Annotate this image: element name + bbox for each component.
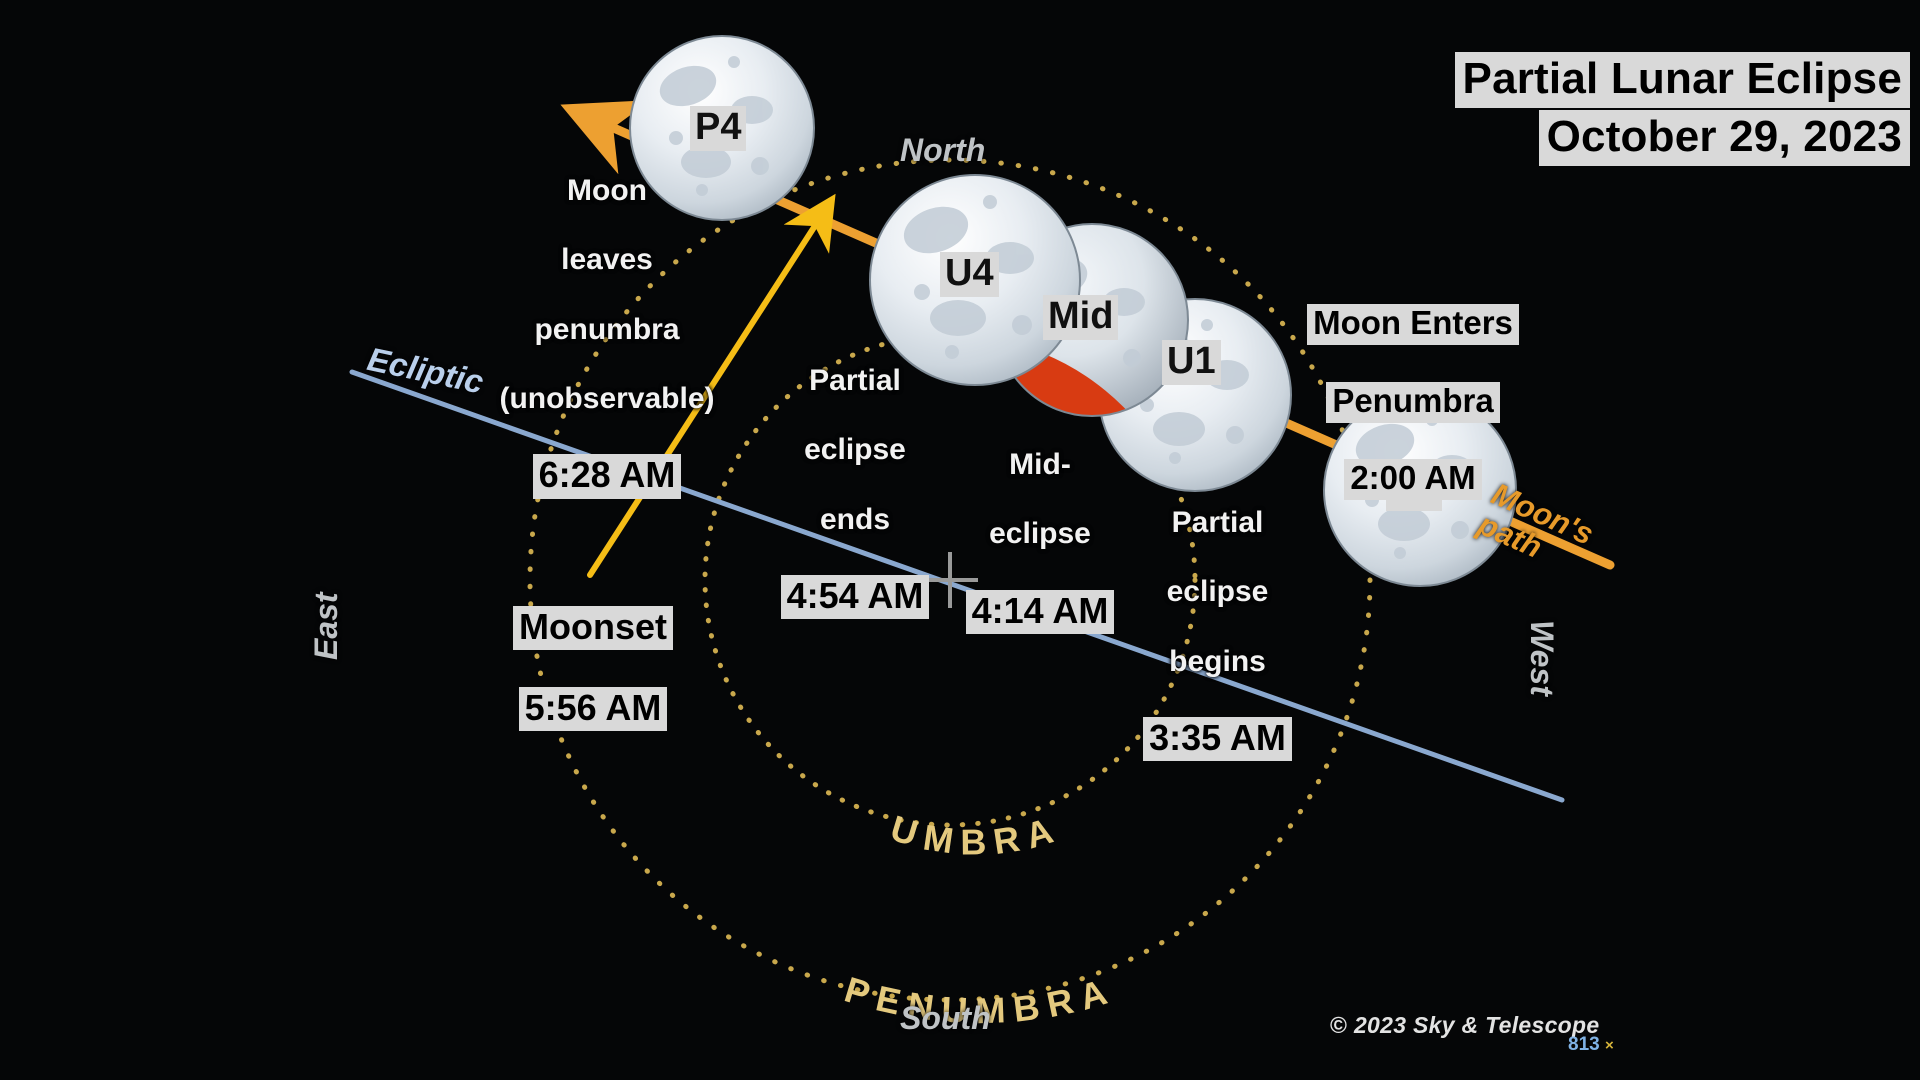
- event-caption-line-1: Moon Enters: [1307, 304, 1519, 345]
- event-time-partial-eclipse-begins: 3:35 AM: [1143, 717, 1292, 761]
- event-caption-line-2: eclipse: [760, 433, 950, 467]
- event-time-moonset: 5:56 AM: [519, 687, 668, 731]
- copyright-icon: ©: [1330, 1012, 1347, 1038]
- event-caption-moonset: Moonset: [513, 606, 673, 650]
- event-caption-line-1: Partial: [1120, 506, 1315, 540]
- event-moonset: Moonset 5:56 AM: [498, 570, 688, 767]
- event-moon-enters-penumbra: Moon Enters Penumbra 2:00 AM: [1288, 268, 1538, 536]
- moon-label-u4: U4: [940, 252, 999, 297]
- event-caption-line-2: eclipse: [1120, 575, 1315, 609]
- event-caption-line-1: Mid-: [940, 448, 1140, 482]
- title-line-1: Partial Lunar Eclipse: [1455, 52, 1910, 108]
- event-partial-eclipse-begins: Partial eclipse begins 3:35 AM: [1120, 470, 1315, 797]
- event-time-moon-leaves-penumbra: 6:28 AM: [533, 454, 682, 498]
- event-caption-line-2: leaves: [492, 243, 722, 277]
- cardinal-east: East: [308, 592, 345, 660]
- event-caption-line-3: ends: [760, 503, 950, 537]
- event-moon-leaves-penumbra: Moon leaves penumbra (unobservable) 6:28…: [492, 138, 722, 535]
- cardinal-north: North: [900, 132, 985, 169]
- copyright-credit: © 2023 Sky & Telescope: [1330, 1012, 1599, 1039]
- cardinal-south: South: [900, 1000, 991, 1037]
- event-caption-line-1: Moon: [492, 174, 722, 208]
- event-caption-line-4: (unobservable): [492, 382, 722, 416]
- event-caption-line-1: Partial: [760, 364, 950, 398]
- event-caption-line-2: Penumbra: [1326, 382, 1499, 423]
- event-partial-eclipse-ends: Partial eclipse ends 4:54 AM: [760, 328, 950, 655]
- copyright-text: 2023 Sky & Telescope: [1354, 1012, 1600, 1038]
- watermark-number: 813: [1568, 1034, 1600, 1055]
- event-caption-line-3: penumbra: [492, 313, 722, 347]
- watermark: 813 ×: [1568, 1034, 1614, 1056]
- event-mid-eclipse: Mid- eclipse 4:14 AM: [940, 412, 1140, 670]
- title-line-2: October 29, 2023: [1539, 110, 1910, 166]
- event-time-mid-eclipse: 4:14 AM: [966, 590, 1115, 634]
- moon-label-u1: U1: [1162, 340, 1221, 385]
- event-time-partial-eclipse-ends: 4:54 AM: [781, 575, 930, 619]
- watermark-mark: ×: [1605, 1037, 1614, 1054]
- event-caption-line-2: eclipse: [940, 517, 1140, 551]
- moon-label-mid: Mid: [1043, 295, 1118, 340]
- cardinal-west: West: [1523, 620, 1560, 696]
- eclipse-diagram: UMBRA PENUMBRA Partial Lunar Eclipse Oct…: [0, 0, 1920, 1080]
- page-title: Partial Lunar Eclipse October 29, 2023: [1455, 52, 1910, 166]
- event-time-moon-enters-penumbra: 2:00 AM: [1344, 459, 1481, 500]
- event-caption-line-3: begins: [1120, 645, 1315, 679]
